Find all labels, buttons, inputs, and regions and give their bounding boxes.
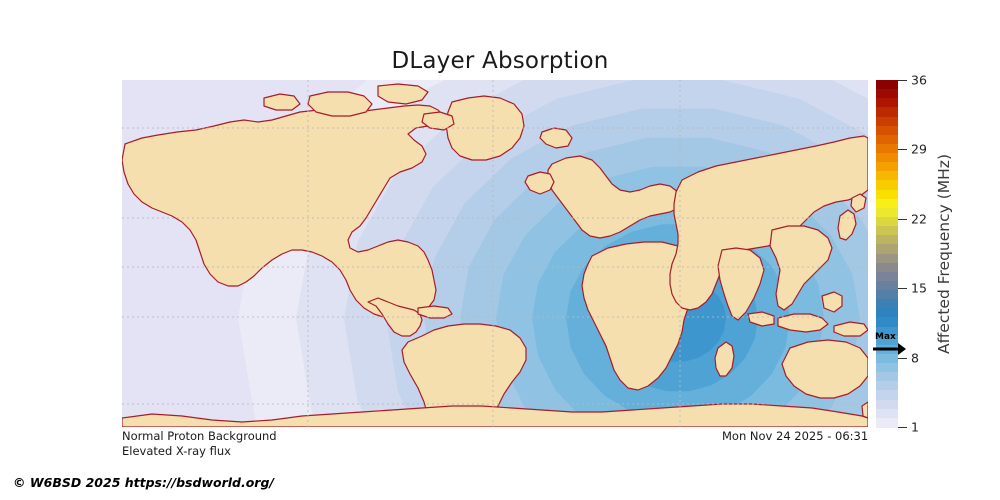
colorbar-tick-mark bbox=[898, 219, 907, 220]
status-xray: Elevated X-ray flux bbox=[122, 444, 277, 459]
colorbar-tick-label: 15 bbox=[911, 281, 927, 296]
colorbar-tick-label: 8 bbox=[911, 350, 919, 365]
colorbar-axis-label-text: Affected Frequency (MHz) bbox=[935, 154, 953, 354]
credit-line: © W6BSD 2025 https://bsdworld.org/ bbox=[13, 475, 274, 490]
figure-root: DLayer Absorption bbox=[0, 0, 1000, 500]
max-label: Max bbox=[875, 332, 896, 342]
colorbar-tick-label: 1 bbox=[911, 420, 919, 435]
status-proton: Normal Proton Background bbox=[122, 429, 277, 444]
max-marker: Max bbox=[872, 335, 906, 357]
status-block: Normal Proton Background Elevated X-ray … bbox=[122, 429, 277, 459]
colorbar-tick-mark bbox=[898, 358, 907, 359]
colorbar-tick-mark bbox=[898, 80, 907, 81]
colorbar-band bbox=[876, 418, 898, 428]
page-title: DLayer Absorption bbox=[0, 48, 1000, 74]
colorbar[interactable]: 3629221581 Max bbox=[876, 80, 898, 427]
colorbar-tick-mark bbox=[898, 149, 907, 150]
colorbar-tick-mark bbox=[898, 288, 907, 289]
colorbar-tick-label: 29 bbox=[911, 142, 927, 157]
timestamp: Mon Nov 24 2025 - 06:31 bbox=[722, 429, 868, 443]
colorbar-tick-mark bbox=[898, 427, 907, 428]
world-map[interactable] bbox=[122, 80, 868, 427]
colorbar-axis-label: Affected Frequency (MHz) bbox=[932, 80, 956, 427]
colorbar-tick-label: 22 bbox=[911, 211, 927, 226]
colorbar-gradient bbox=[876, 80, 898, 427]
map-canvas bbox=[122, 80, 868, 427]
colorbar-tick-label: 36 bbox=[911, 73, 927, 88]
